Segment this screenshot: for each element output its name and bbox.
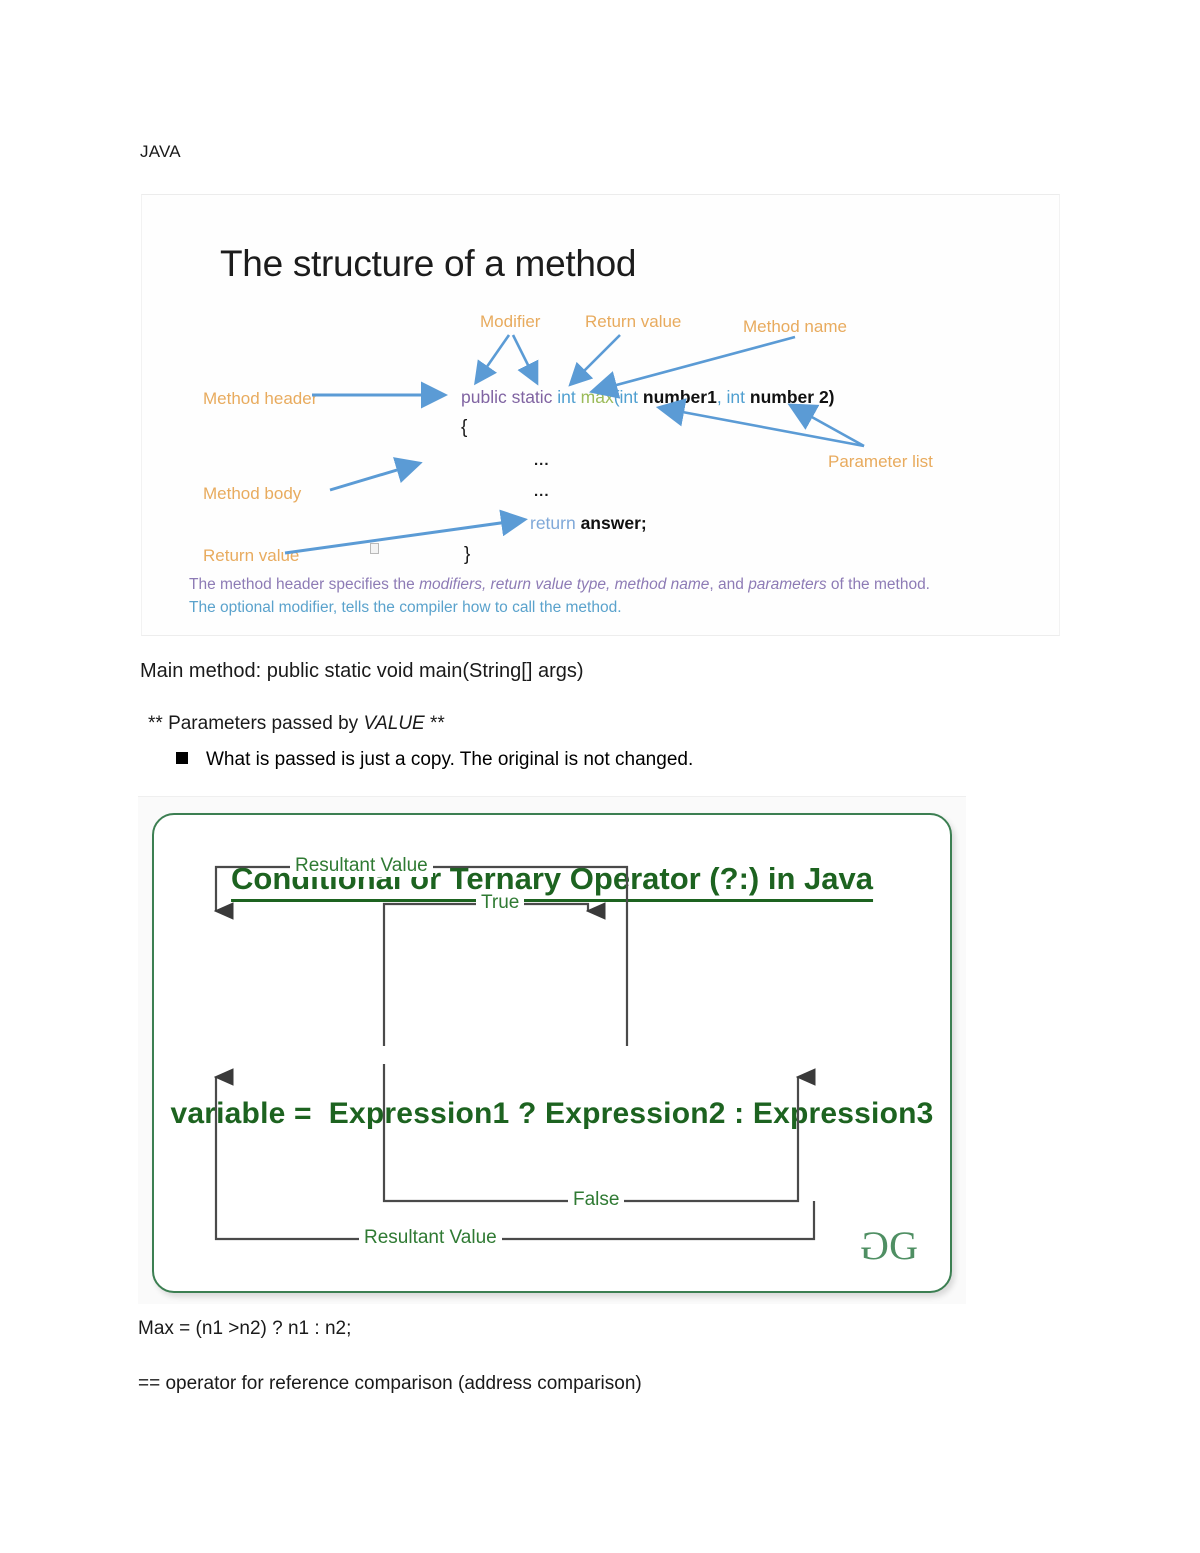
main-method-text: Main method: public static void main(Str… (140, 660, 584, 683)
geeksforgeeks-logo-icon: GG (862, 1222, 916, 1269)
bullet-list-item: What is passed is just a copy. The origi… (176, 749, 693, 771)
code-paren-open: (int (614, 387, 643, 407)
code-ellipsis-1: ... (534, 452, 550, 469)
label-return-value-left: Return value (203, 546, 299, 566)
code-return-statement: return answer; (530, 513, 647, 534)
label-return-value-top: Return value (585, 312, 681, 332)
figure-method-structure: The structure of a method Modifier Retur… (141, 194, 1060, 636)
params-suffix: ** (425, 713, 445, 734)
document-page: JAVA The structure of a method Modifier … (0, 0, 1200, 1553)
figure-ternary-operator: Conditional or Ternary Operator (?:) in … (138, 796, 966, 1304)
parameters-by-value-text: ** Parameters passed by VALUE ** (148, 713, 445, 735)
code-brace-open: { (461, 417, 467, 439)
code-method-signature: public static int max(int number1, int n… (461, 387, 835, 408)
desc-1c: of the method. (827, 576, 930, 593)
arrow-parameter-list-2 (792, 406, 864, 446)
code-param2-type: int (727, 387, 750, 407)
figure-description-line-1: The method header specifies the modifier… (189, 576, 930, 594)
arrow-method-name (594, 337, 795, 391)
figure-description-line-2: The optional modifier, tells the compile… (189, 599, 622, 617)
equals-operator-text: == operator for reference comparison (ad… (138, 1373, 642, 1395)
connector-false (384, 1064, 798, 1201)
desc-1b: , and (709, 576, 748, 593)
label-method-body: Method body (203, 484, 301, 504)
desc-1a: The method header specifies the (189, 576, 419, 593)
code-method-name: max (581, 387, 614, 407)
label-true: True (476, 892, 524, 914)
code-ellipsis-2: ... (534, 483, 550, 500)
code-brace-close: } (464, 544, 470, 566)
max-ternary-example-text: Max = (n1 >n2) ? n1 : n2; (138, 1318, 351, 1340)
arrow-parameter-list-1 (661, 408, 864, 446)
arrow-modifier-a (477, 335, 509, 381)
code-modifier: public static (461, 387, 557, 407)
label-resultant-value-bottom: Resultant Value (359, 1227, 502, 1249)
code-param2: number 2) (750, 387, 835, 407)
cursor-artifact (370, 543, 379, 554)
code-param1: number1 (643, 387, 717, 407)
ternary-expression: variable = Expression1 ? Expression2 : E… (170, 1097, 933, 1131)
arrow-return-value (572, 335, 620, 383)
bullet-square-icon (176, 752, 188, 764)
figure-title-method-structure: The structure of a method (220, 243, 636, 285)
ternary-card: Conditional or Ternary Operator (?:) in … (152, 813, 952, 1293)
params-emphasis: VALUE (363, 713, 424, 734)
label-modifier: Modifier (480, 312, 540, 332)
arrow-modifier-b (513, 335, 536, 381)
bullet-item-text: What is passed is just a copy. The origi… (206, 749, 693, 771)
label-method-header: Method header (203, 389, 317, 409)
code-comma: , (717, 387, 727, 407)
label-method-name: Method name (743, 317, 847, 337)
desc-1-em2: parameters (748, 576, 826, 593)
code-return-type: int (557, 387, 580, 407)
code-return-value: answer; (581, 513, 647, 533)
code-return-keyword: return (530, 513, 581, 533)
connector-true (384, 904, 588, 1046)
page-heading: JAVA (140, 142, 181, 162)
arrow-return-value-left (285, 520, 522, 553)
label-false: False (568, 1189, 624, 1211)
params-prefix: ** Parameters passed by (148, 713, 363, 734)
label-parameter-list: Parameter list (828, 452, 933, 472)
arrow-method-body (330, 464, 417, 490)
desc-1-em1: modifiers, return value type, method nam… (419, 576, 709, 593)
label-resultant-value-top: Resultant Value (290, 855, 433, 877)
